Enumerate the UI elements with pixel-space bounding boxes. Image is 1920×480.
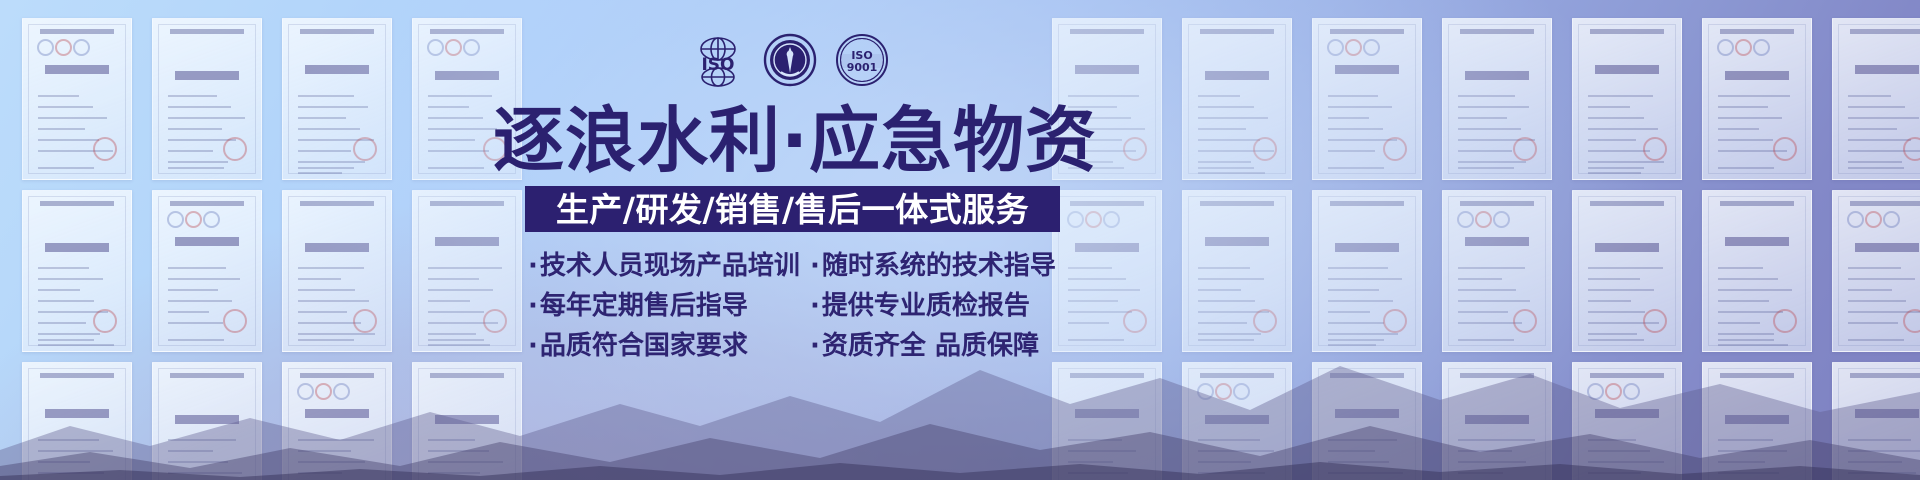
- feature-item-left: ·每年定期售后指导: [528, 293, 810, 319]
- bullet-marker-icon: ·: [810, 333, 820, 359]
- iso-globe-badge: ISO: [690, 32, 746, 88]
- banner-headline: 逐浪水利·应急物资: [505, 98, 1085, 182]
- feature-item-right: ·提供专业质检报告: [810, 293, 1030, 319]
- quality-seal-badge: [762, 32, 818, 88]
- feature-item-left: ·技术人员现场产品培训: [528, 253, 810, 279]
- iso-9001-badge: ISO 9001: [834, 32, 890, 88]
- feature-item-right: ·资质齐全 品质保障: [810, 333, 1039, 359]
- bullet-marker-icon: ·: [528, 333, 538, 359]
- feature-row: ·品质符合国家要求·资质齐全 品质保障: [528, 326, 1073, 366]
- svg-text:9001: 9001: [847, 61, 878, 74]
- bullet-marker-icon: ·: [810, 293, 820, 319]
- banner-subtitle-bar: 生产/研发/销售/售后一体式服务: [525, 186, 1060, 232]
- feature-item-left-label: 技术人员现场产品培训: [540, 253, 800, 279]
- feature-item-right-label: 随时系统的技术指导: [822, 253, 1056, 279]
- bullet-marker-icon: ·: [528, 253, 538, 279]
- feature-item-right-label: 资质齐全 品质保障: [822, 333, 1039, 359]
- feature-list: ·技术人员现场产品培训·随时系统的技术指导·每年定期售后指导·提供专业质检报告·…: [528, 246, 1073, 368]
- banner-headline-text: 逐浪水利·应急物资: [493, 105, 1097, 176]
- promotional-banner: ISO ISO 9001: [0, 0, 1920, 480]
- feature-item-right-label: 提供专业质检报告: [822, 293, 1030, 319]
- feature-item-left: ·品质符合国家要求: [528, 333, 810, 359]
- feature-row: ·每年定期售后指导·提供专业质检报告: [528, 286, 1073, 326]
- feature-row: ·技术人员现场产品培训·随时系统的技术指导: [528, 246, 1073, 286]
- feature-item-left-label: 品质符合国家要求: [540, 333, 748, 359]
- bullet-marker-icon: ·: [528, 293, 538, 319]
- iso-globe-badge-label: ISO: [701, 55, 734, 75]
- bullet-marker-icon: ·: [810, 253, 820, 279]
- certification-badge-row: ISO ISO 9001: [690, 31, 890, 89]
- feature-item-right: ·随时系统的技术指导: [810, 253, 1056, 279]
- feature-item-left-label: 每年定期售后指导: [540, 293, 748, 319]
- banner-subtitle-text: 生产/研发/销售/售后一体式服务: [556, 193, 1029, 226]
